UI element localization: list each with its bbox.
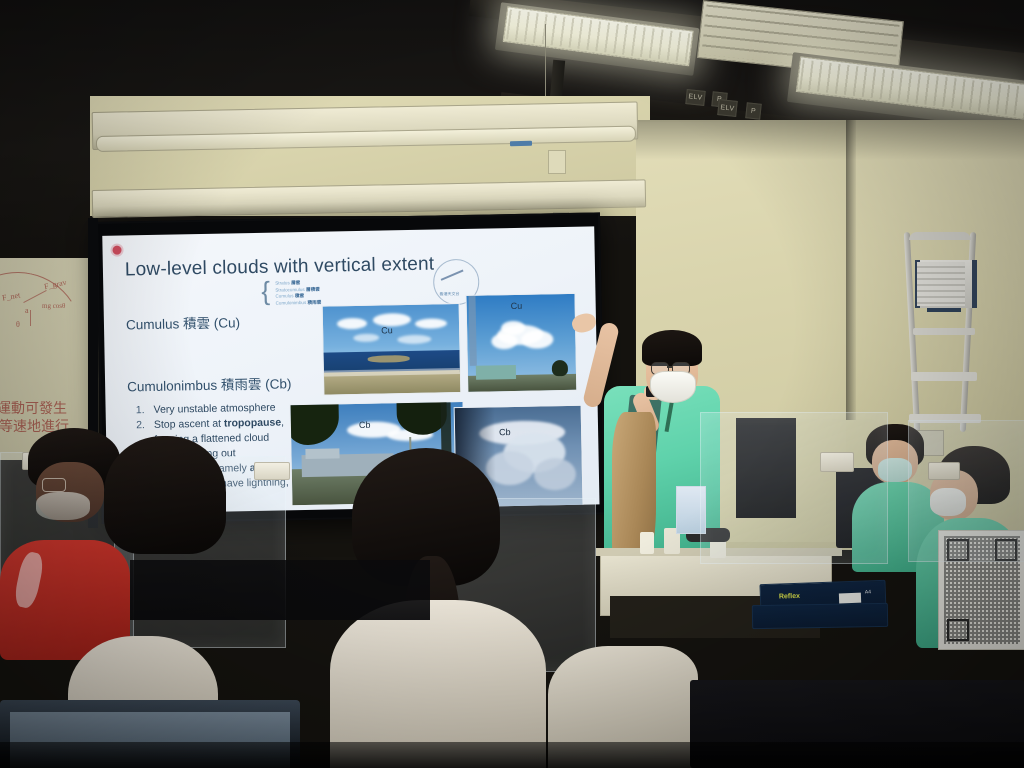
- slide-title: Low-level clouds with vertical extent: [125, 254, 435, 282]
- legend-en-3: Cumulonimbus: [276, 300, 307, 306]
- slide-legend: Stratus 層雲 Stratocumulus 層積雲 Cumulus 積雲 …: [275, 280, 321, 307]
- legend-zh-1: 層積雲: [306, 286, 320, 291]
- presenter-face-mask: [650, 371, 696, 403]
- legend-en-1: Stratocumulus: [275, 287, 304, 293]
- acrylic-divider: [700, 412, 888, 564]
- photo-label-cu-2: Cu: [511, 301, 523, 311]
- pipe-tag-elv: ELV: [685, 89, 705, 106]
- presenter-glasses-bridge: [667, 366, 672, 368]
- whiteboard-note: mg cosθ: [42, 302, 65, 310]
- pipe-tag-p-2: P: [745, 102, 762, 119]
- wall-corner-shadow: [846, 120, 856, 420]
- pipe-tag-elv-2: ELV: [717, 99, 738, 117]
- slide-subhead-cumulus: Cumulus 積雲 (Cu): [126, 311, 240, 333]
- bullet-num: 2.: [134, 418, 145, 433]
- wall-shadow: [636, 120, 1024, 160]
- desk-shadow: [130, 560, 430, 620]
- paper-box-reflex-2: [752, 603, 888, 629]
- legend-zh-2: 積雲: [295, 293, 304, 298]
- screen-brand-label: [510, 141, 532, 146]
- foreground-shadow: [0, 742, 1024, 768]
- bench-cup: [640, 532, 654, 554]
- brace-icon: {: [261, 278, 270, 304]
- divider-clip: [928, 462, 960, 480]
- wall-socket-plate: [548, 150, 566, 174]
- whiteboard-note: θ: [16, 320, 20, 329]
- photo-label-cb-1: Cb: [359, 420, 371, 430]
- slide-logo-icon: [112, 246, 121, 255]
- acrylic-divider: [908, 420, 1024, 562]
- presenter-hair: [642, 330, 702, 366]
- classroom-scene: ELV P ELV P F_net F_grav mg cosθ a θ 運動可…: [0, 0, 1024, 768]
- slide-photo-cu-single: Cu: [465, 293, 577, 393]
- legend-zh-0: 層雲: [291, 280, 300, 285]
- step-ladder: [905, 232, 987, 432]
- whiteboard-note: a: [25, 306, 29, 315]
- bullet-num: 1.: [133, 403, 144, 418]
- legend-zh-3: 積雨雲: [307, 299, 321, 304]
- photo-label-cu-1: Cu: [381, 325, 393, 335]
- slide-subhead-cumulonimbus: Cumulonimbus 積雨雲 (Cb): [127, 372, 292, 395]
- slide-photo-cu-coastal: Cu: [322, 303, 462, 396]
- divider-clip: [254, 462, 290, 480]
- paper-box-size: A4: [865, 589, 871, 595]
- legend-en-0: Stratus: [275, 280, 290, 285]
- photo-label-cb-2: Cb: [499, 427, 511, 437]
- divider-clip: [820, 452, 854, 472]
- student-left-glasses: [42, 478, 66, 492]
- paper-box-brand: Reflex: [779, 593, 800, 601]
- legend-en-2: Cumulus: [275, 293, 293, 298]
- slide-watermark-text: 香港天文台: [439, 291, 459, 297]
- student-left-mask: [36, 492, 90, 520]
- student-left2-hair: [104, 436, 226, 554]
- whiteboard-note-cjk: 運動可發生: [0, 398, 67, 418]
